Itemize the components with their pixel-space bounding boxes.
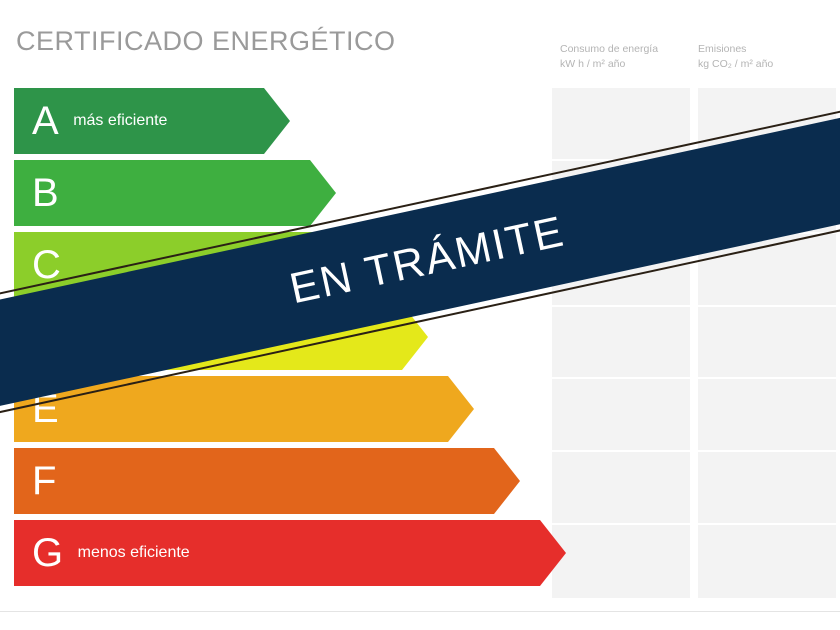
- rating-band-b: B: [14, 160, 336, 226]
- column-header-consumo-unit: kW h / m² año: [560, 57, 658, 72]
- rating-band-a: Amás eficiente: [14, 88, 290, 154]
- rating-band-caption: más eficiente: [73, 112, 167, 130]
- value-cell-consumo-a: [552, 88, 690, 161]
- bottom-divider: [0, 611, 840, 612]
- column-header-consumo-name: Consumo de energía: [560, 43, 658, 55]
- column-header-emisiones-unit: kg CO₂ / m² año: [698, 57, 773, 72]
- rating-band-letter: F: [32, 461, 57, 501]
- value-cell-consumo-g: [552, 525, 690, 598]
- rating-band-letter: A: [32, 101, 59, 141]
- value-cell-emisiones-g: [698, 525, 836, 598]
- rating-band-caption: menos eficiente: [78, 544, 190, 562]
- value-cell-consumo-f: [552, 452, 690, 525]
- column-header-emisiones-name: Emisiones: [698, 43, 746, 55]
- value-cell-emisiones-d: [698, 307, 836, 380]
- rating-band-letter: B: [32, 173, 59, 213]
- rating-band-g: Gmenos eficiente: [14, 520, 566, 586]
- rating-band-f: F: [14, 448, 520, 514]
- value-cell-consumo-d: [552, 307, 690, 380]
- page-title: CERTIFICADO ENERGÉTICO: [16, 26, 396, 57]
- column-header-consumo: Consumo de energía kW h / m² año: [560, 42, 658, 72]
- rating-band-letter: G: [32, 533, 64, 573]
- value-cell-emisiones-e: [698, 379, 836, 452]
- energy-certificate: CERTIFICADO ENERGÉTICO Consumo de energí…: [0, 0, 840, 630]
- value-cell-consumo-e: [552, 379, 690, 452]
- value-cell-emisiones-f: [698, 452, 836, 525]
- column-header-emisiones: Emisiones kg CO₂ / m² año: [698, 42, 773, 72]
